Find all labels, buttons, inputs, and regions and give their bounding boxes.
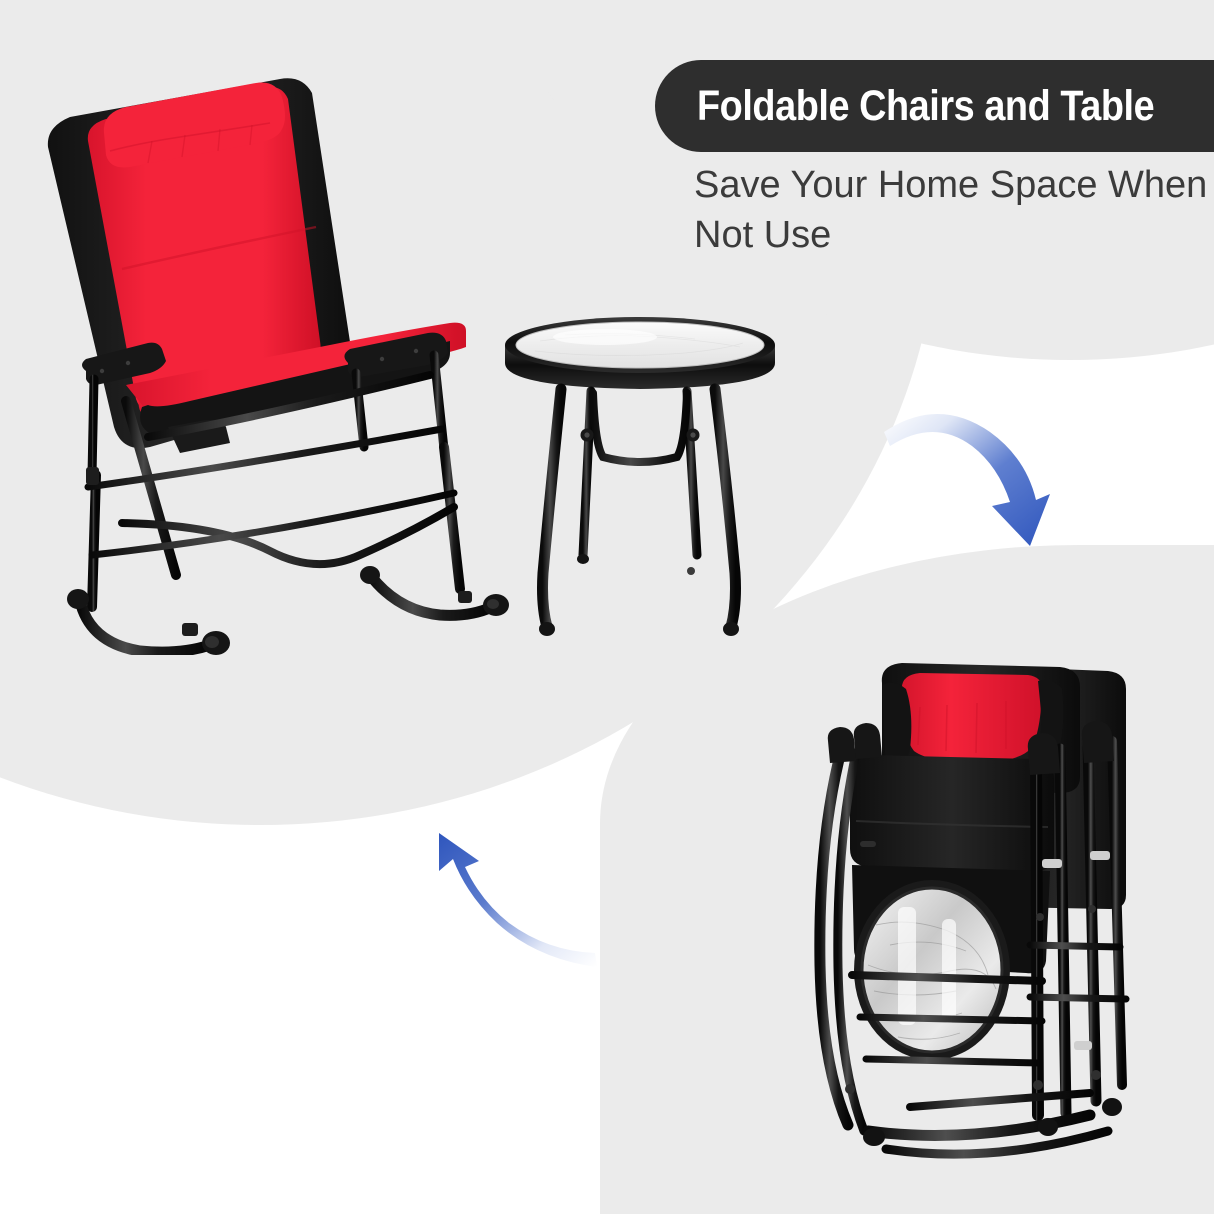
arrow-to-setup-icon (405, 825, 600, 975)
headline-title: Foldable Chairs and Table (697, 82, 1154, 131)
arrow-to-folded-icon (880, 388, 1090, 548)
folded-stack-image (790, 645, 1210, 1214)
headline-badge: Foldable Chairs and Table (655, 60, 1214, 152)
side-table-image (495, 305, 785, 650)
rocking-chair-image (30, 55, 520, 655)
headline-subtitle: Save Your Home Space When Not Use (694, 160, 1214, 260)
product-infographic: Foldable Chairs and Table Save Your Home… (0, 0, 1214, 1214)
